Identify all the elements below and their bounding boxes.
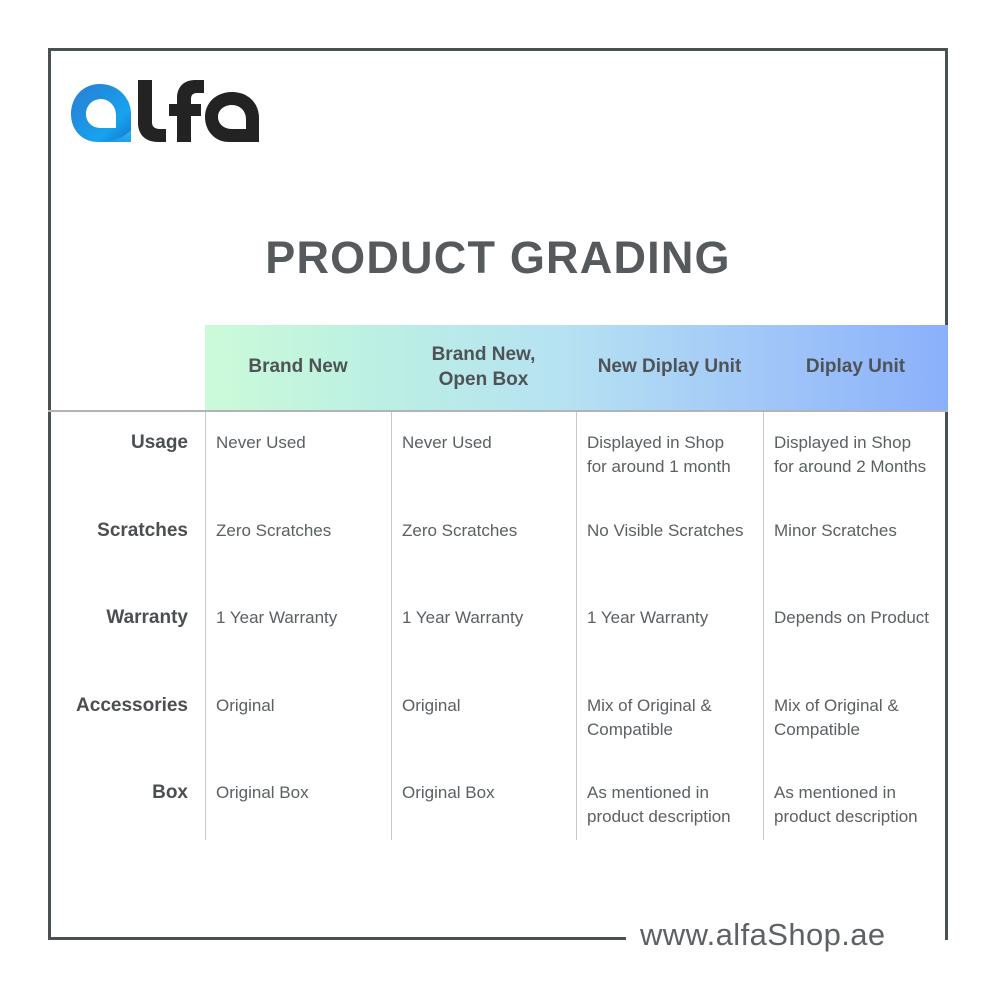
- cell-line-2: for around 1 month: [587, 457, 731, 476]
- cell-warranty-brand-new: 1 Year Warranty: [205, 587, 391, 630]
- cell-line-1: Zero Scratches: [402, 521, 517, 540]
- cell-box-open-box: Original Box: [391, 762, 576, 805]
- cell-line-2: for around 2 Months: [774, 457, 926, 476]
- table-body: Usage Never Used Never Used Displayed in…: [48, 412, 948, 850]
- cell-line-1: Original Box: [216, 783, 309, 802]
- cell-box-display-unit: As mentioned in product description: [763, 762, 948, 829]
- column-header-open-box-line1: Brand New,: [432, 344, 536, 365]
- cell-line-1: As mentioned in: [587, 783, 709, 802]
- cell-line-1: Displayed in Shop: [587, 433, 724, 452]
- cell-line-1: Original: [216, 696, 275, 715]
- cell-scratches-display-unit: Minor Scratches: [763, 500, 948, 543]
- row-label-warranty: Warranty: [48, 587, 205, 630]
- cell-line-1: 1 Year Warranty: [216, 608, 337, 627]
- cell-warranty-new-display-unit: 1 Year Warranty: [576, 587, 763, 630]
- cell-usage-open-box: Never Used: [391, 412, 576, 455]
- table-row: Scratches Zero Scratches Zero Scratches …: [48, 500, 948, 588]
- table-row: Box Original Box Original Box As mention…: [48, 762, 948, 850]
- column-header-open-box-line2: Open Box: [439, 369, 529, 390]
- table-row: Usage Never Used Never Used Displayed in…: [48, 412, 948, 500]
- cell-line-1: Zero Scratches: [216, 521, 331, 540]
- cell-line-1: 1 Year Warranty: [587, 608, 708, 627]
- cell-usage-brand-new: Never Used: [205, 412, 391, 455]
- row-label-box: Box: [48, 762, 205, 805]
- cell-line-2: Compatible: [587, 720, 673, 739]
- cell-line-2: Compatible: [774, 720, 860, 739]
- column-header-brand-new-open-box: Brand New, Open Box: [391, 325, 576, 410]
- cell-line-1: Mix of Original &: [587, 696, 712, 715]
- cell-line-1: No Visible Scratches: [587, 521, 744, 540]
- cell-accessories-display-unit: Mix of Original & Compatible: [763, 675, 948, 742]
- cell-line-1: As mentioned in: [774, 783, 896, 802]
- footer-website-url[interactable]: www.alfaShop.ae: [640, 917, 886, 953]
- cell-box-brand-new: Original Box: [205, 762, 391, 805]
- row-label-scratches: Scratches: [48, 500, 205, 543]
- logo-letter-a-dark: [205, 92, 259, 142]
- cell-line-2: product description: [774, 807, 918, 826]
- cell-scratches-new-display-unit: No Visible Scratches: [576, 500, 763, 543]
- cell-line-1: Never Used: [216, 433, 306, 452]
- frame-top-border: [48, 48, 948, 51]
- column-header-new-display-unit-label: New Diplay Unit: [598, 355, 742, 380]
- cell-warranty-display-unit: Depends on Product: [763, 587, 948, 630]
- column-header-new-display-unit: New Diplay Unit: [576, 325, 763, 410]
- alfa-logo: [68, 78, 268, 148]
- row-label-accessories: Accessories: [48, 675, 205, 718]
- cell-line-1: Original Box: [402, 783, 495, 802]
- cell-line-1: Never Used: [402, 433, 492, 452]
- column-header-display-unit-label: Diplay Unit: [806, 355, 905, 380]
- cell-line-2: product description: [587, 807, 731, 826]
- cell-line-1: Minor Scratches: [774, 521, 897, 540]
- cell-line-1: Original: [402, 696, 461, 715]
- column-header-display-unit: Diplay Unit: [763, 325, 948, 410]
- logo-letter-a-blue: [71, 84, 131, 142]
- cell-accessories-new-display-unit: Mix of Original & Compatible: [576, 675, 763, 742]
- cell-line-1: Displayed in Shop: [774, 433, 911, 452]
- column-header-brand-new-open-box-label: Brand New, Open Box: [432, 343, 536, 392]
- table-row: Accessories Original Original Mix of Ori…: [48, 675, 948, 763]
- column-header-brand-new-label: Brand New: [248, 355, 347, 380]
- cell-accessories-open-box: Original: [391, 675, 576, 718]
- cell-line-1: Depends on Product: [774, 608, 929, 627]
- cell-accessories-brand-new: Original: [205, 675, 391, 718]
- cell-box-new-display-unit: As mentioned in product description: [576, 762, 763, 829]
- row-label-usage: Usage: [48, 412, 205, 455]
- cell-scratches-brand-new: Zero Scratches: [205, 500, 391, 543]
- cell-warranty-open-box: 1 Year Warranty: [391, 587, 576, 630]
- page-title: PRODUCT GRADING: [48, 232, 948, 284]
- table-header-row: Brand New Brand New, Open Box New Diplay…: [205, 325, 948, 410]
- cell-scratches-open-box: Zero Scratches: [391, 500, 576, 543]
- logo-letter-f: [169, 80, 204, 142]
- cell-line-1: 1 Year Warranty: [402, 608, 523, 627]
- cell-usage-display-unit: Displayed in Shop for around 2 Months: [763, 412, 948, 479]
- alfa-logo-mark: [68, 78, 268, 148]
- table-row: Warranty 1 Year Warranty 1 Year Warranty…: [48, 587, 948, 675]
- logo-letter-l: [138, 80, 166, 142]
- column-header-brand-new: Brand New: [205, 325, 391, 410]
- frame-bottom-border: [48, 937, 626, 940]
- cell-line-1: Mix of Original &: [774, 696, 899, 715]
- cell-usage-new-display-unit: Displayed in Shop for around 1 month: [576, 412, 763, 479]
